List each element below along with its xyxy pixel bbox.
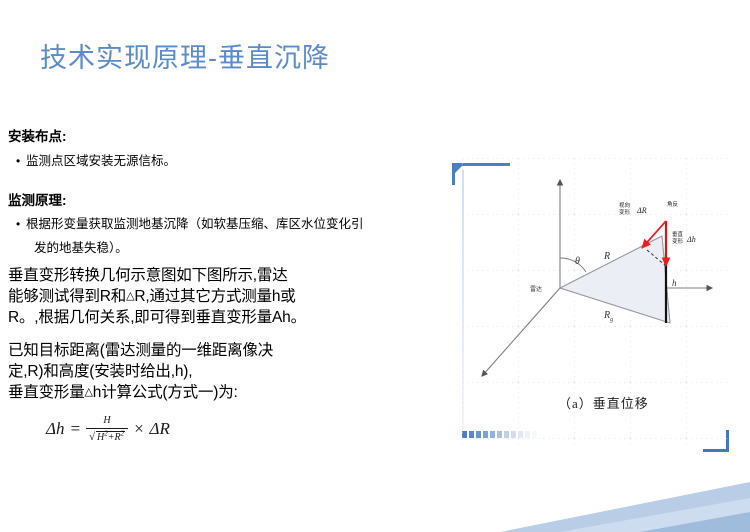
label-los-deform-line2: 变形	[619, 208, 631, 216]
paragraph-known-line3: 垂直变形量△h计算公式(方式一)为:	[8, 382, 448, 403]
page-title: 技术实现原理-垂直沉降	[40, 36, 330, 75]
bullet-text-principle-cont: 发的地基失稳）。	[34, 237, 448, 259]
diagram-caption: （a）垂直位移	[558, 393, 649, 412]
list-item: • 监测点区域安装无源信标。	[8, 150, 448, 172]
den-r-exp: 2	[121, 430, 125, 438]
content-column: 安装布点: • 监测点区域安装无源信标。 监测原理: • 根据形变量获取监测地基…	[8, 128, 448, 443]
formula-rhs: ΔR	[150, 419, 170, 439]
formula-times: ×	[133, 419, 144, 439]
formula-fraction: H H2+R2	[86, 415, 128, 443]
paragraph-known: 已知目标距离(雷达测量的一维距离像决 定,R)和高度(安装时给出,h), 垂直变…	[8, 340, 448, 403]
formula-equals: =	[69, 419, 80, 439]
formula-denominator: H2+R2	[86, 428, 128, 444]
delta-triangle-glyph: △	[85, 386, 93, 398]
paragraph-known-line1: 已知目标距离(雷达测量的一维距离像决	[8, 340, 448, 361]
paragraph-geometry: 垂直变形转换几何示意图如下图所示,雷达 能够测试得到R和△R,通过其它方式测量h…	[8, 265, 448, 328]
label-delta-h: Δh	[686, 235, 696, 244]
formula-lhs: Δh	[46, 419, 64, 439]
section-heading-principle: 监测原理:	[8, 192, 448, 210]
sqrt-icon: H2+R2	[89, 432, 125, 443]
label-theta: θ	[575, 256, 580, 267]
para2-line3-a: 垂直变形量	[8, 384, 85, 401]
label-height: h	[672, 278, 677, 288]
para2-line3-b: h计算公式(方式一)为:	[93, 384, 238, 401]
label-los-deform-line1: 视向	[619, 201, 630, 209]
formula-delta-h: Δh = H H2+R2 × ΔR	[46, 415, 448, 443]
label-corner-reflector: 角反	[667, 200, 679, 208]
spacer	[8, 174, 448, 192]
corner-bracket-tl-triangle	[453, 166, 462, 175]
section-heading-install: 安装布点:	[8, 128, 448, 146]
label-slant-range: R	[603, 251, 610, 262]
paragraph-geometry-line1: 垂直变形转换几何示意图如下图所示,雷达	[8, 265, 448, 286]
label-delta-r: ΔR	[636, 206, 647, 215]
formula-numerator: H	[99, 415, 114, 428]
para1-line2-a: 能够测试得到R和	[8, 288, 126, 305]
label-vert-deform-line1: 垂直	[672, 230, 684, 238]
label-radar: 雷达	[530, 285, 542, 293]
paragraph-geometry-line3: R。,根据几何关系,即可得到垂直变形量Ah。	[8, 307, 448, 328]
bullet-text-principle: 根据形变量获取监测地基沉降（如软基压缩、库区水位变化引	[26, 213, 448, 235]
para1-line2-b: R,通过其它方式测量h或	[134, 288, 295, 305]
paragraph-geometry-line2: 能够测试得到R和△R,通过其它方式测量h或	[8, 286, 448, 307]
list-item: • 根据形变量获取监测地基沉降（如软基压缩、库区水位变化引	[8, 213, 448, 235]
paragraph-known-line2: 定,R)和高度(安装时给出,h),	[8, 361, 448, 382]
sqrt-body: H2+R2	[96, 431, 125, 443]
label-vert-deform-line2: 变形	[672, 237, 684, 245]
bullet-dot-icon: •	[8, 213, 26, 235]
bullet-dot-icon: •	[8, 150, 26, 172]
bullet-text-install: 监测点区域安装无源信标。	[26, 150, 448, 172]
